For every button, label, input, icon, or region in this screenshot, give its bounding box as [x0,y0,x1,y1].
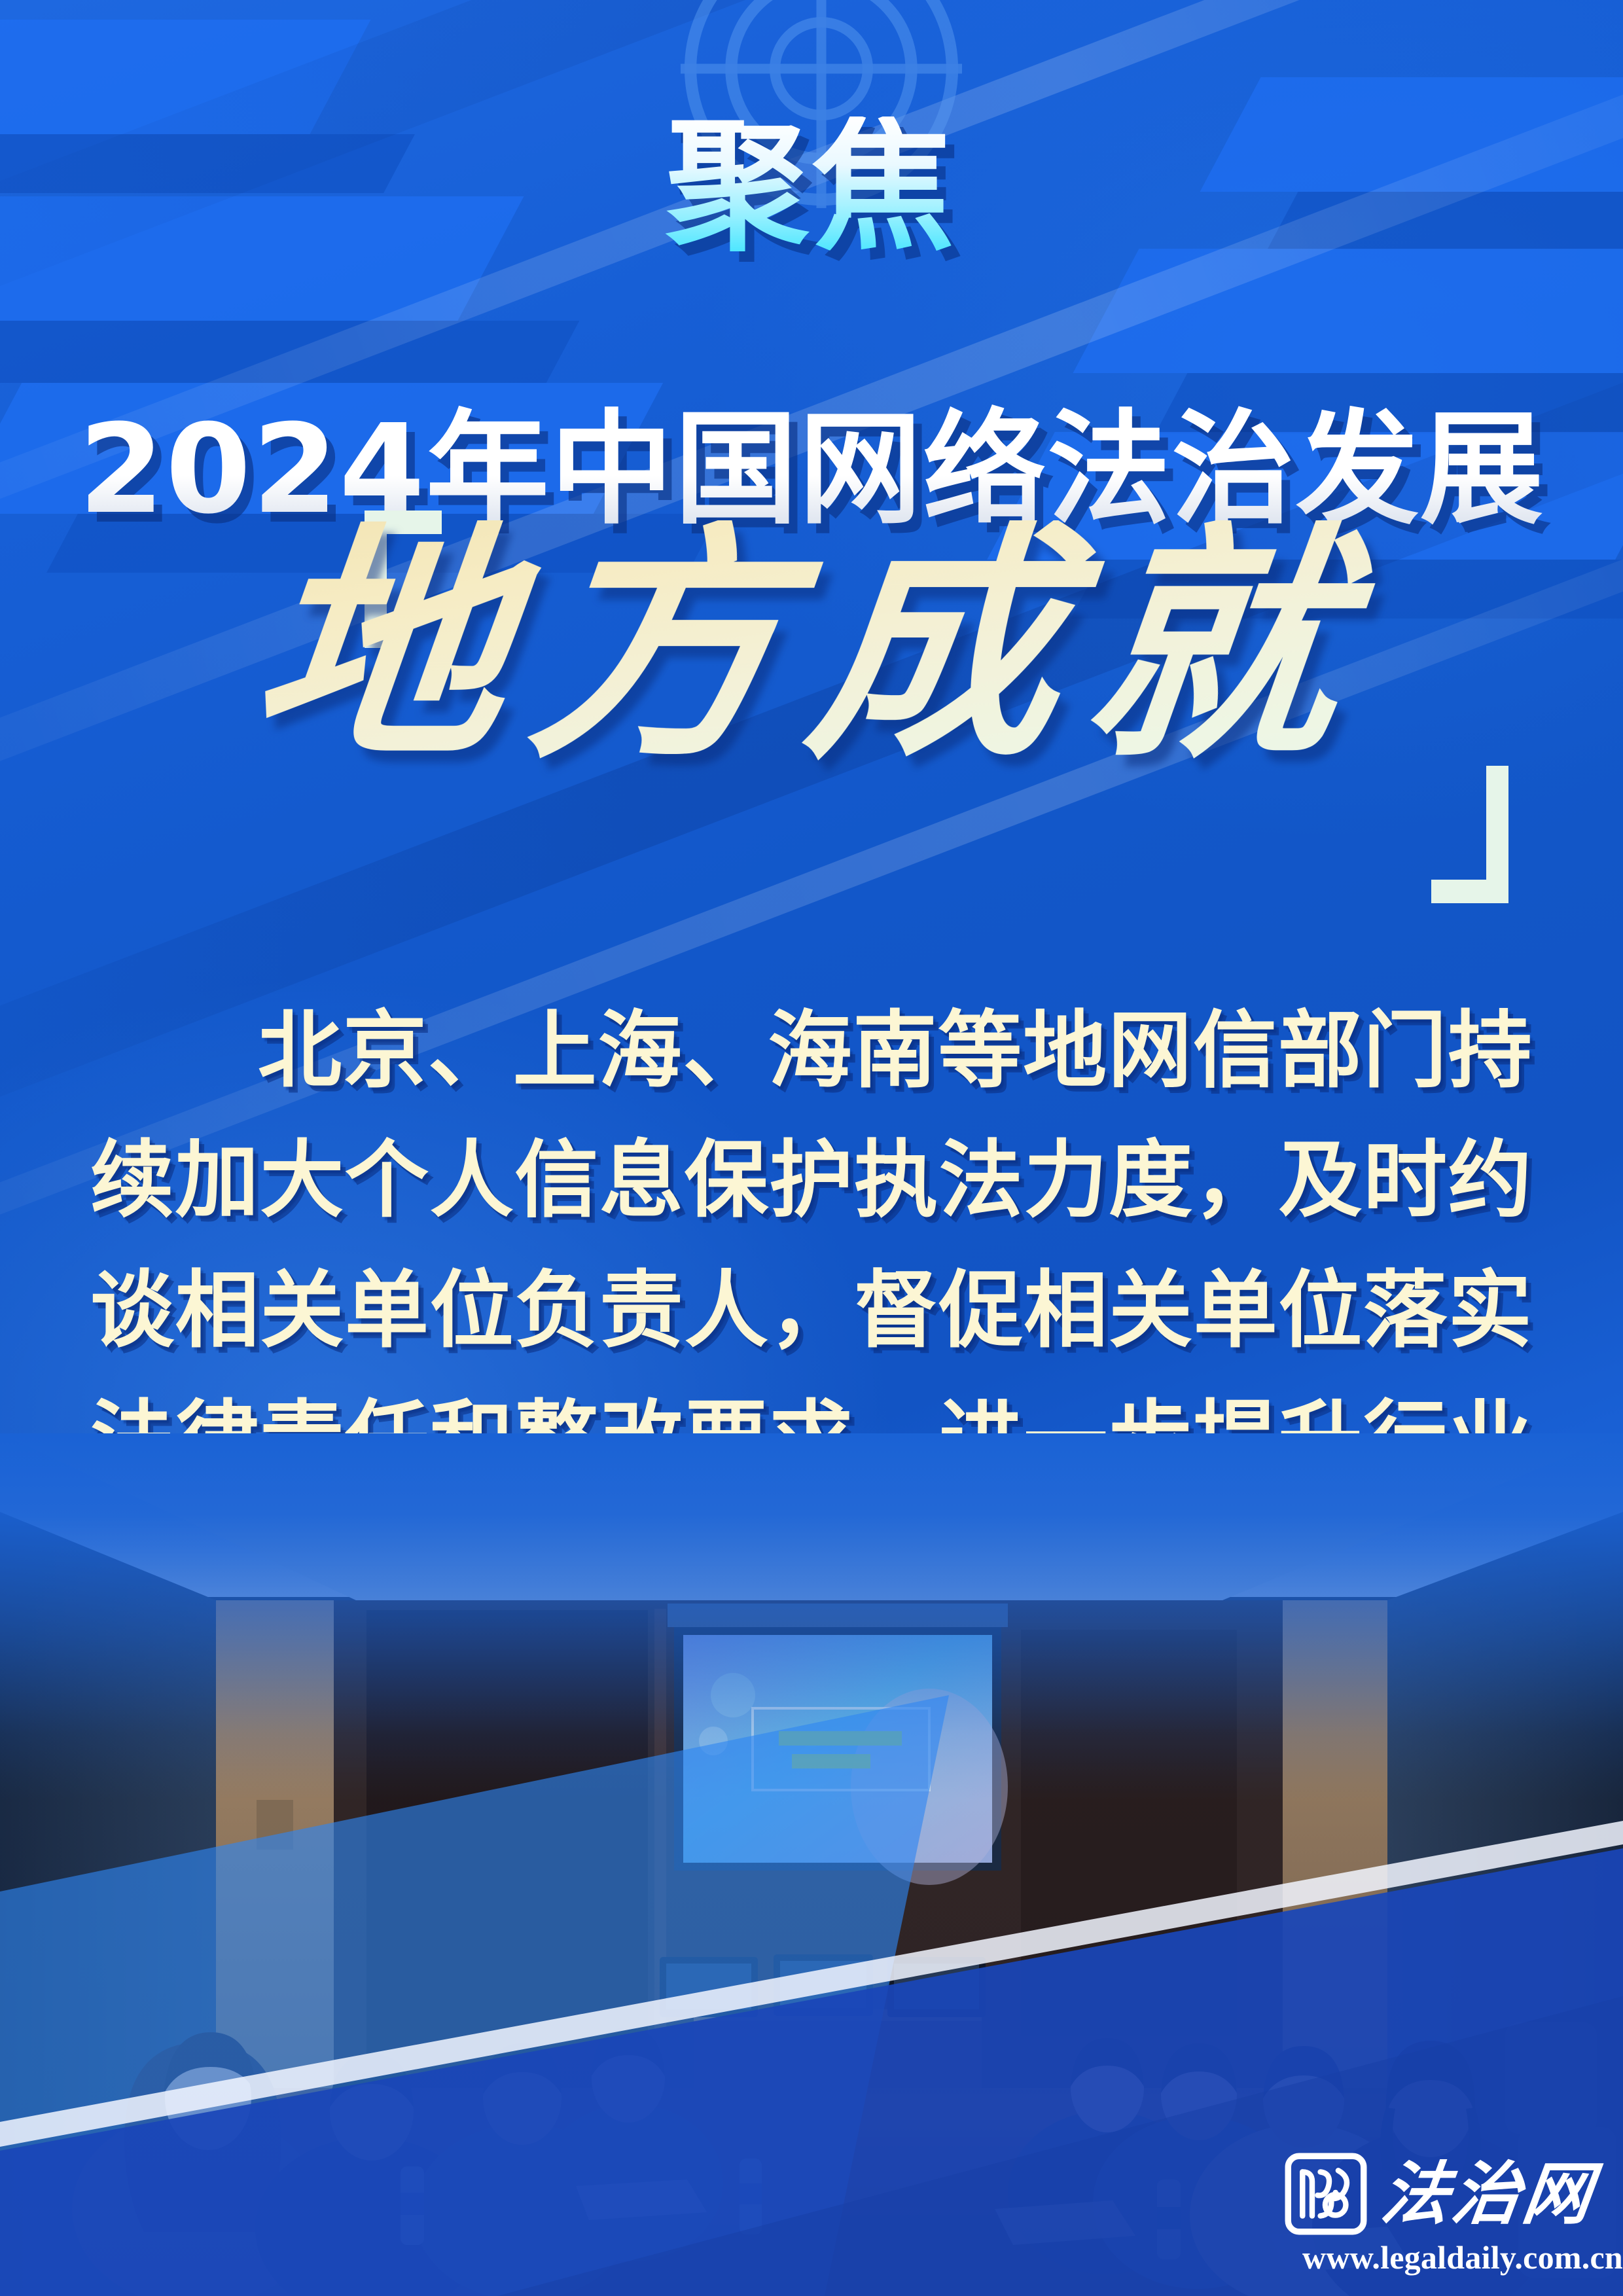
logo-brand-text: 法治网 [1377,2160,1597,2228]
site-logo[interactable]: 法治网 www.legaldaily.com.cn [1302,2152,1576,2274]
calligraphy-block: 地方成就 [0,504,1623,870]
decor-ribbon-tl-2s [0,321,579,383]
logo-url[interactable]: www.legaldaily.com.cn [1302,2241,1576,2274]
corner-bracket-close-icon [1431,766,1508,903]
logo-row: 法治网 [1302,2152,1576,2236]
poster-root: 聚焦 2024年中国网络法治发展 地方成就 北京、上海、海南等地网信部门持续加大… [0,0,1623,2296]
kicker-focus: 聚焦 [0,117,1623,259]
legal-seal-icon [1285,2153,1367,2235]
calligraphy-title: 地方成就 [0,520,1623,770]
decor-ribbon-tr-2 [1073,249,1623,373]
